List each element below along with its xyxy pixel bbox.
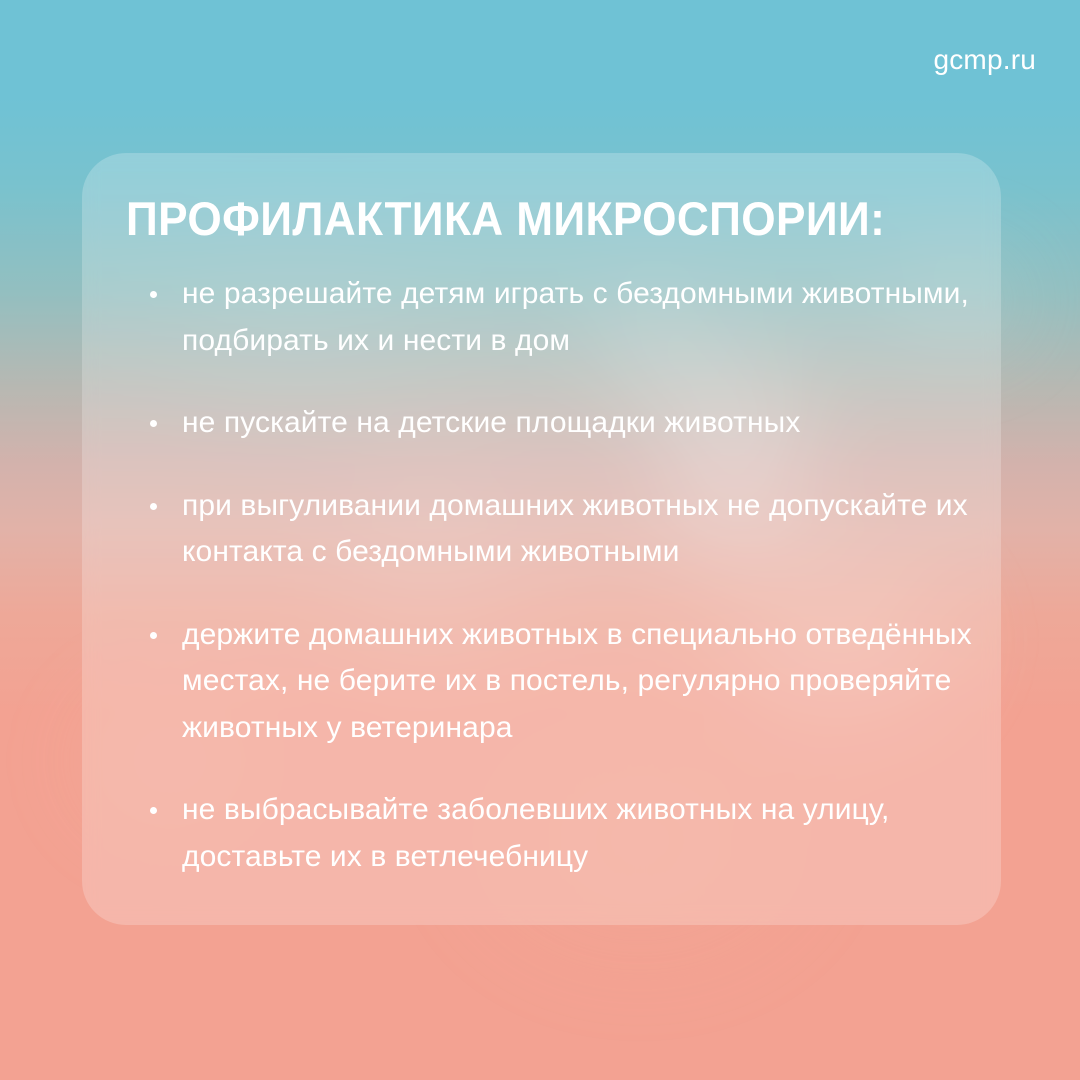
list-item-text: при выгуливании домашних животных не доп… xyxy=(182,489,968,569)
list-item: не выбрасывайте заболевших животных на у… xyxy=(146,787,983,880)
page-title: ПРОФИЛАКТИКА МИКРОСПОРИИ: xyxy=(126,195,885,242)
list-item-text: держите домашних животных в специально о… xyxy=(182,618,972,744)
info-card: ПРОФИЛАКТИКА МИКРОСПОРИИ: не разрешайте … xyxy=(82,153,1001,925)
bullet-dot-icon xyxy=(150,807,157,814)
poster: gcmp.ru ПРОФИЛАКТИКА МИКРОСПОРИИ: не раз… xyxy=(0,0,1080,1080)
bullet-dot-icon xyxy=(150,291,157,298)
list-item: не пускайте на детские площадки животных xyxy=(146,400,983,447)
bullet-dot-icon xyxy=(150,420,157,427)
list-item-text: не пускайте на детские площадки животных xyxy=(182,406,800,439)
list-item: не разрешайте детям играть с бездомными … xyxy=(146,271,983,364)
list-item: при выгуливании домашних животных не доп… xyxy=(146,483,983,576)
list-item-text: не разрешайте детям играть с бездомными … xyxy=(182,277,969,357)
bullet-dot-icon xyxy=(150,503,157,510)
site-handle: gcmp.ru xyxy=(933,46,1036,74)
prevention-tips-list: не разрешайте детям играть с бездомными … xyxy=(146,271,983,880)
list-item-text: не выбрасывайте заболевших животных на у… xyxy=(182,793,889,873)
list-item: держите домашних животных в специально о… xyxy=(146,612,983,752)
bullet-dot-icon xyxy=(150,632,157,639)
